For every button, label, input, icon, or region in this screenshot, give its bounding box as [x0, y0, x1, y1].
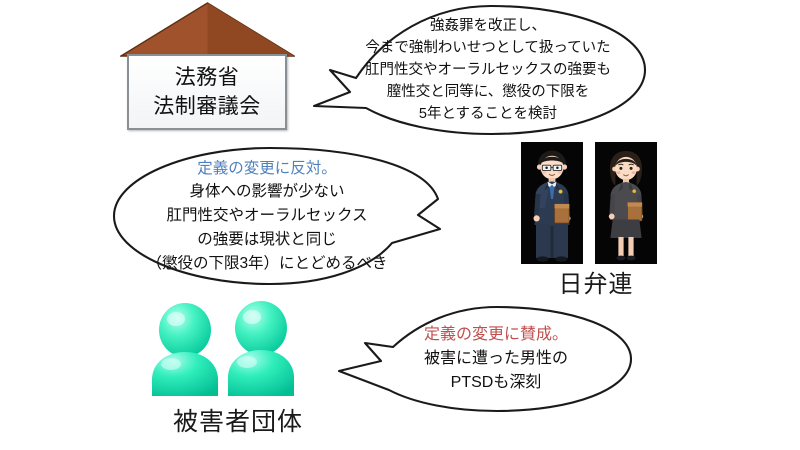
speech-bubble-bar-association-opposition: 定義の変更に反対。 身体への影響が少ない 肛門性交やオーラルセックス の強要は現…	[100, 143, 452, 289]
bubble1-line-5: 5年とすることを検討	[419, 103, 557, 125]
victims-avatar-group-icon	[138, 300, 338, 400]
bar-association-label: 日弁連	[515, 264, 677, 299]
person-avatar-icon	[152, 303, 218, 396]
victims-group: 被害者団体	[138, 300, 338, 448]
person-avatar-icon	[228, 301, 294, 396]
bubble3-header: 定義の変更に賛成。	[424, 323, 568, 347]
bubble-text-bar-association-opposition: 定義の変更に反対。 身体への影響が少ない 肛門性交やオーラルセックス の強要は現…	[100, 143, 452, 289]
ministry-house-group: 法務省 法制審議会	[120, 2, 295, 134]
bubble3-line-1: 被害に遭った男性の	[424, 347, 568, 371]
bubble1-line-1: 強姦罪を改正し、	[430, 15, 546, 37]
ministry-label: 法務省 法制審議会	[127, 58, 287, 128]
bubble1-line-2: 今まで強制わいせつとして扱っていた	[365, 37, 610, 59]
bubble-text-victims-group-support: 定義の変更に賛成。 被害に遭った男性の PTSDも深刻	[335, 303, 635, 415]
figure-canvas: 法務省 法制審議会 強姦罪を改正し、 今まで強制わいせつとして扱っていた 肛門性…	[0, 0, 800, 450]
bubble2-line-1: 身体への影響が少ない	[189, 180, 344, 204]
bubble1-line-3: 肛門性交やオーラルセックスの強要も	[365, 59, 611, 81]
ministry-label-line-2: 法制審議会	[153, 93, 261, 122]
bubble2-line-3: の強要は現状と同じ	[197, 228, 337, 252]
bubble-text-ministry-proposal: 強姦罪を改正し、 今まで強制わいせつとして扱っていた 肛門性交やオーラルセックス…	[300, 0, 650, 140]
bubble2-line-4: （懲役の下限3年）にとどめるべき	[146, 252, 387, 276]
bubble2-header: 定義の変更に反対。	[197, 157, 337, 181]
female-lawyer-icon	[595, 142, 657, 264]
bubble1-line-4: 膣性交と同等に、懲役の下限を	[387, 81, 590, 103]
victims-group-label: 被害者団体	[138, 402, 338, 438]
speech-bubble-ministry-proposal: 強姦罪を改正し、 今まで強制わいせつとして扱っていた 肛門性交やオーラルセックス…	[300, 0, 650, 140]
bar-association-group: 日弁連	[521, 142, 671, 302]
male-lawyer-icon	[521, 142, 583, 264]
bubble2-line-2: 肛門性交やオーラルセックス	[166, 204, 367, 228]
female-lawyer-photo	[595, 142, 657, 264]
speech-bubble-victims-group-support: 定義の変更に賛成。 被害に遭った男性の PTSDも深刻	[335, 303, 635, 415]
bubble3-line-2: PTSDも深刻	[451, 371, 542, 395]
ministry-label-line-1: 法務省	[175, 64, 240, 93]
house-roof-icon	[120, 2, 295, 57]
male-lawyer-photo	[521, 142, 583, 264]
